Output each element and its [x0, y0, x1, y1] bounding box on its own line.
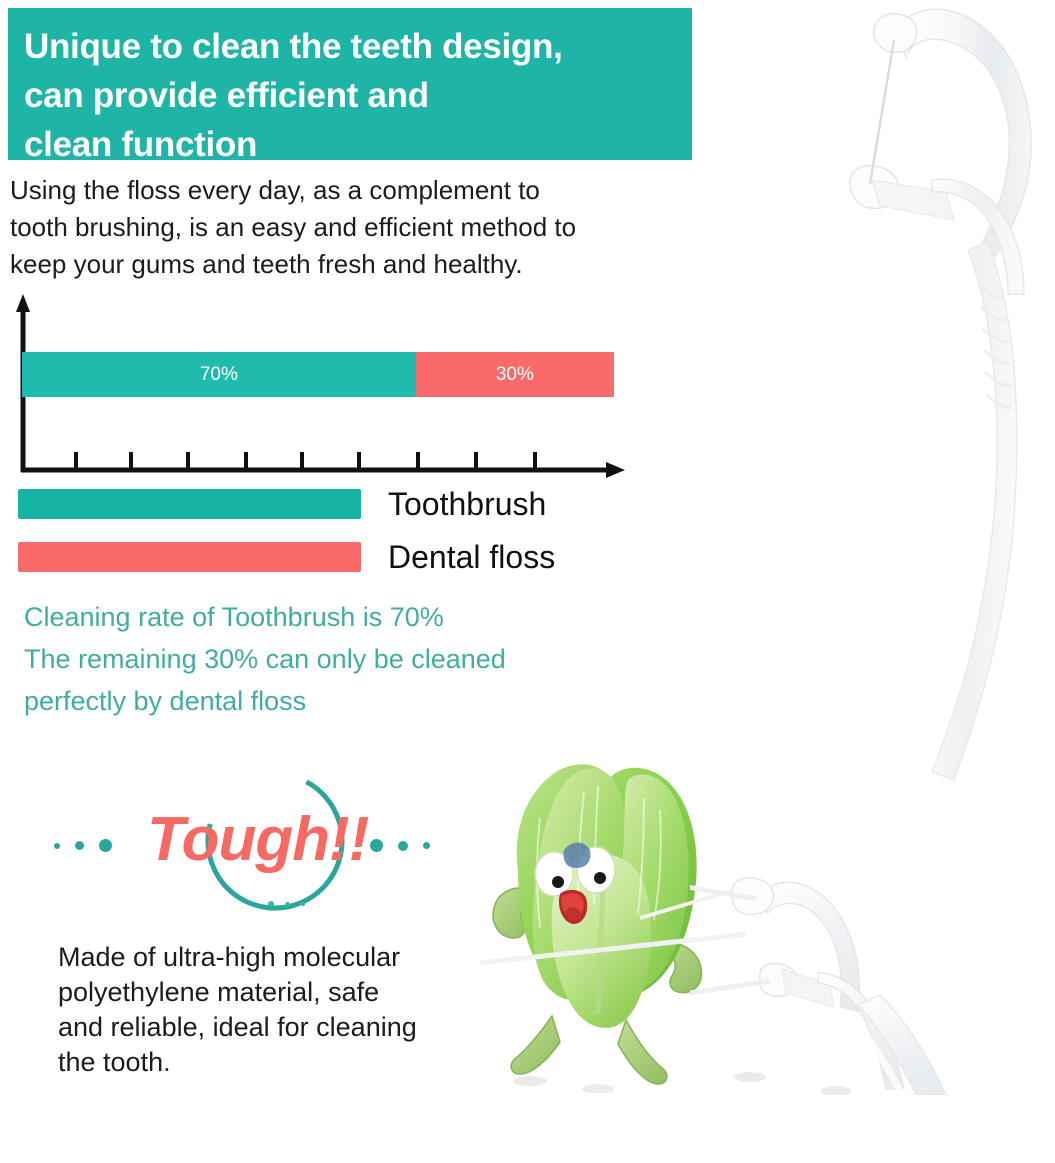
tough-dots-right — [370, 839, 430, 852]
floss-pick-icon — [690, 855, 1030, 1095]
bar-segment-toothbrush: 70% — [22, 352, 416, 397]
bar-segment-dental-floss: 30% — [416, 352, 614, 397]
legend-label-dental-floss: Dental floss — [388, 541, 555, 573]
stacked-bar: 70% 30% — [22, 352, 614, 397]
chart-legend: Toothbrush Dental floss — [18, 482, 618, 588]
legend-label-toothbrush: Toothbrush — [388, 488, 546, 520]
floss-pick-icon — [828, 0, 1055, 804]
legend-swatch-teal-icon — [18, 489, 361, 519]
legend-item-toothbrush: Toothbrush — [18, 482, 618, 526]
floss-pick-bottom-image — [690, 855, 1030, 1095]
bar-label-dental-floss: 30% — [496, 364, 534, 386]
infographic-page: Unique to clean the teeth design, can pr… — [0, 0, 1055, 1163]
intro-paragraph: Using the floss every day, as a compleme… — [10, 172, 690, 283]
floss-pick-top-image — [828, 0, 1055, 804]
bar-label-toothbrush: 70% — [200, 364, 238, 386]
chart-caption: Cleaning rate of Toothbrush is 70% The r… — [24, 596, 664, 722]
header-title: Unique to clean the teeth design, can pr… — [24, 22, 676, 169]
y-axis-arrow — [16, 294, 30, 312]
tough-dots-bottom — [268, 901, 305, 907]
x-axis-arrow — [606, 462, 625, 478]
tough-dots-left — [54, 839, 112, 852]
tough-badge: Tough!! — [40, 765, 480, 930]
cleaning-rate-chart: 70% 30% — [0, 292, 640, 482]
x-axis-ticks — [76, 452, 535, 470]
tough-word: Tough!! — [147, 809, 368, 871]
header-banner: Unique to clean the teeth design, can pr… — [8, 8, 692, 160]
legend-swatch-red-icon — [18, 542, 361, 572]
legend-item-dental-floss: Dental floss — [18, 535, 618, 579]
material-paragraph: Made of ultra-high molecular polyethylen… — [58, 940, 478, 1080]
